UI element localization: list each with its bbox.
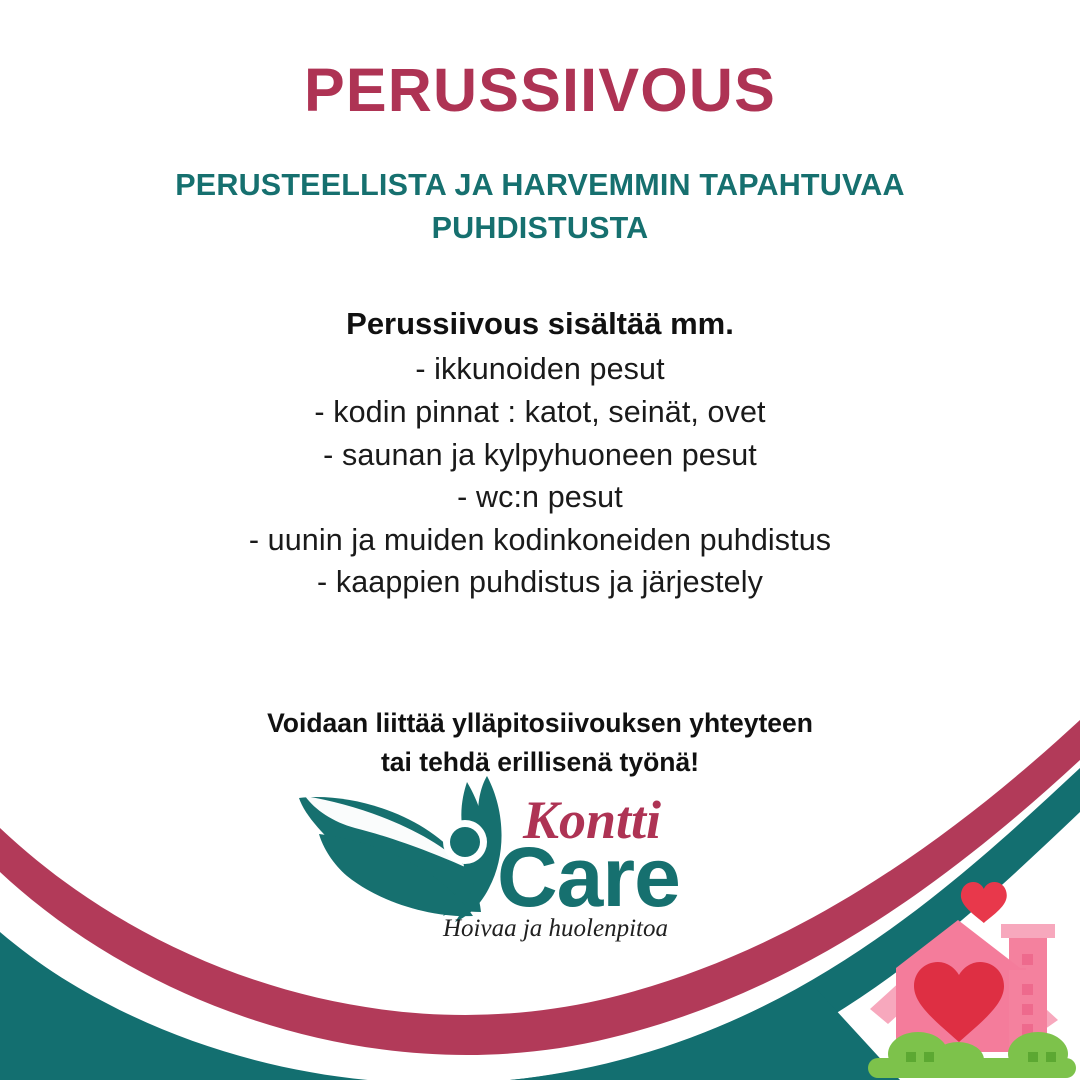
floating-heart-icon	[961, 882, 1007, 923]
grass-strip	[868, 1058, 1076, 1078]
bush-window	[924, 1052, 934, 1062]
bush-window	[906, 1052, 916, 1062]
teal-wave-fill	[0, 934, 900, 1080]
chimney-window	[1022, 954, 1033, 965]
closing-line-1: Voidaan liittää ylläpitosiivouksen yhtey…	[267, 708, 813, 738]
poster-content: PERUSSIIVOUS PERUSTEELLISTA JA HARVEMMIN…	[0, 0, 1080, 782]
house-window	[1022, 984, 1033, 995]
logo-tagline: Hoivaa ja huolenpitoa	[442, 915, 668, 942]
house-window	[1022, 1004, 1033, 1015]
closing-line-2: tai tehdä erillisenä työnä!	[381, 747, 699, 777]
list-item: - ikkunoiden pesut	[0, 348, 1080, 391]
heart-house-illustration	[862, 862, 1080, 1080]
page-title: PERUSSIIVOUS	[0, 0, 1080, 122]
list-item: - kodin pinnat : katot, seinät, ovet	[0, 391, 1080, 434]
list-item: - kaappien puhdistus ja järjestely	[0, 561, 1080, 604]
closing-note: Voidaan liittää ylläpitosiivouksen yhtey…	[0, 604, 1080, 782]
list-heading: Perussiivous sisältää mm.	[0, 251, 1080, 345]
logo-wordmark: Care	[497, 830, 680, 924]
service-list: - ikkunoiden pesut - kodin pinnat : kato…	[0, 344, 1080, 603]
bush-window	[1028, 1052, 1038, 1062]
list-item: - uunin ja muiden kodinkoneiden puhdistu…	[0, 519, 1080, 562]
list-item: - wc:n pesut	[0, 476, 1080, 519]
leaf-person-icon	[299, 776, 502, 922]
poster-canvas: PERUSSIIVOUS PERUSTEELLISTA JA HARVEMMIN…	[0, 0, 1080, 1080]
list-item: - saunan ja kylpyhuoneen pesut	[0, 434, 1080, 477]
chimney-cap	[1001, 924, 1055, 938]
brand-logo: Kontti Care Hoivaa ja huolenpitoa	[291, 776, 691, 944]
bush-window	[1046, 1052, 1056, 1062]
page-subtitle: PERUSTEELLISTA JA HARVEMMIN TAPAHTUVAA P…	[0, 122, 1080, 251]
